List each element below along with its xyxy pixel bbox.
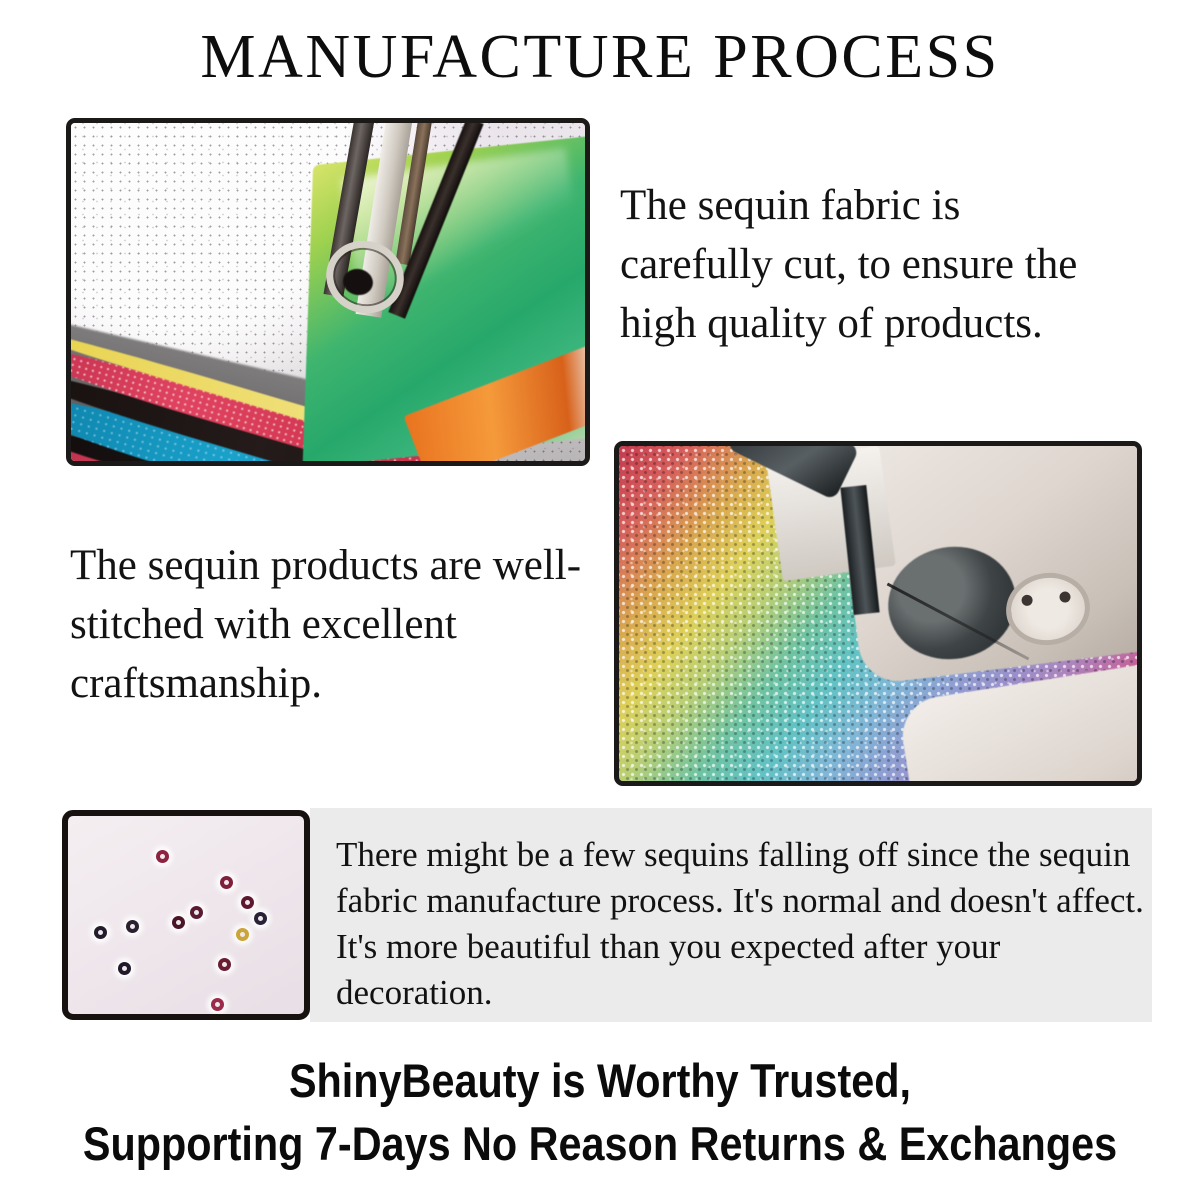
sequin-dot [126, 920, 139, 933]
sequin-dot [172, 916, 185, 929]
sequin-dot [236, 928, 249, 941]
sequin-dot [190, 906, 203, 919]
stitching-description-text: The sequin products are well-stitched wi… [70, 536, 600, 713]
page-title: MANUFACTURE PROCESS [0, 22, 1200, 92]
sequin-dot [220, 876, 233, 889]
notice-text: There might be a few sequins falling off… [336, 832, 1156, 1016]
sequin-dot [241, 896, 254, 909]
stitching-photo-canvas [619, 446, 1137, 781]
loose-sequins-thumbnail [62, 810, 310, 1020]
sequin-dot [254, 912, 267, 925]
cutting-description-text: The sequin fabric is carefully cut, to e… [620, 176, 1120, 353]
sequin-dot [118, 962, 131, 975]
sequin-dot [218, 958, 231, 971]
sequin-dot [211, 998, 224, 1011]
footer-line-1: ShinyBeauty is Worthy Trusted, [72, 1053, 1128, 1109]
footer-line-2: Supporting 7-Days No Reason Returns & Ex… [72, 1116, 1128, 1172]
notice-band: There might be a few sequins falling off… [62, 808, 1152, 1022]
sequin-dot [94, 926, 107, 939]
infographic-page: MANUFACTURE PROCESS [0, 0, 1200, 1200]
sequin-fabric-cutting-photo [66, 118, 590, 466]
sewing-machine-stitching-photo [614, 441, 1142, 786]
sequin-dot [156, 850, 169, 863]
cutting-photo-canvas [71, 123, 585, 461]
